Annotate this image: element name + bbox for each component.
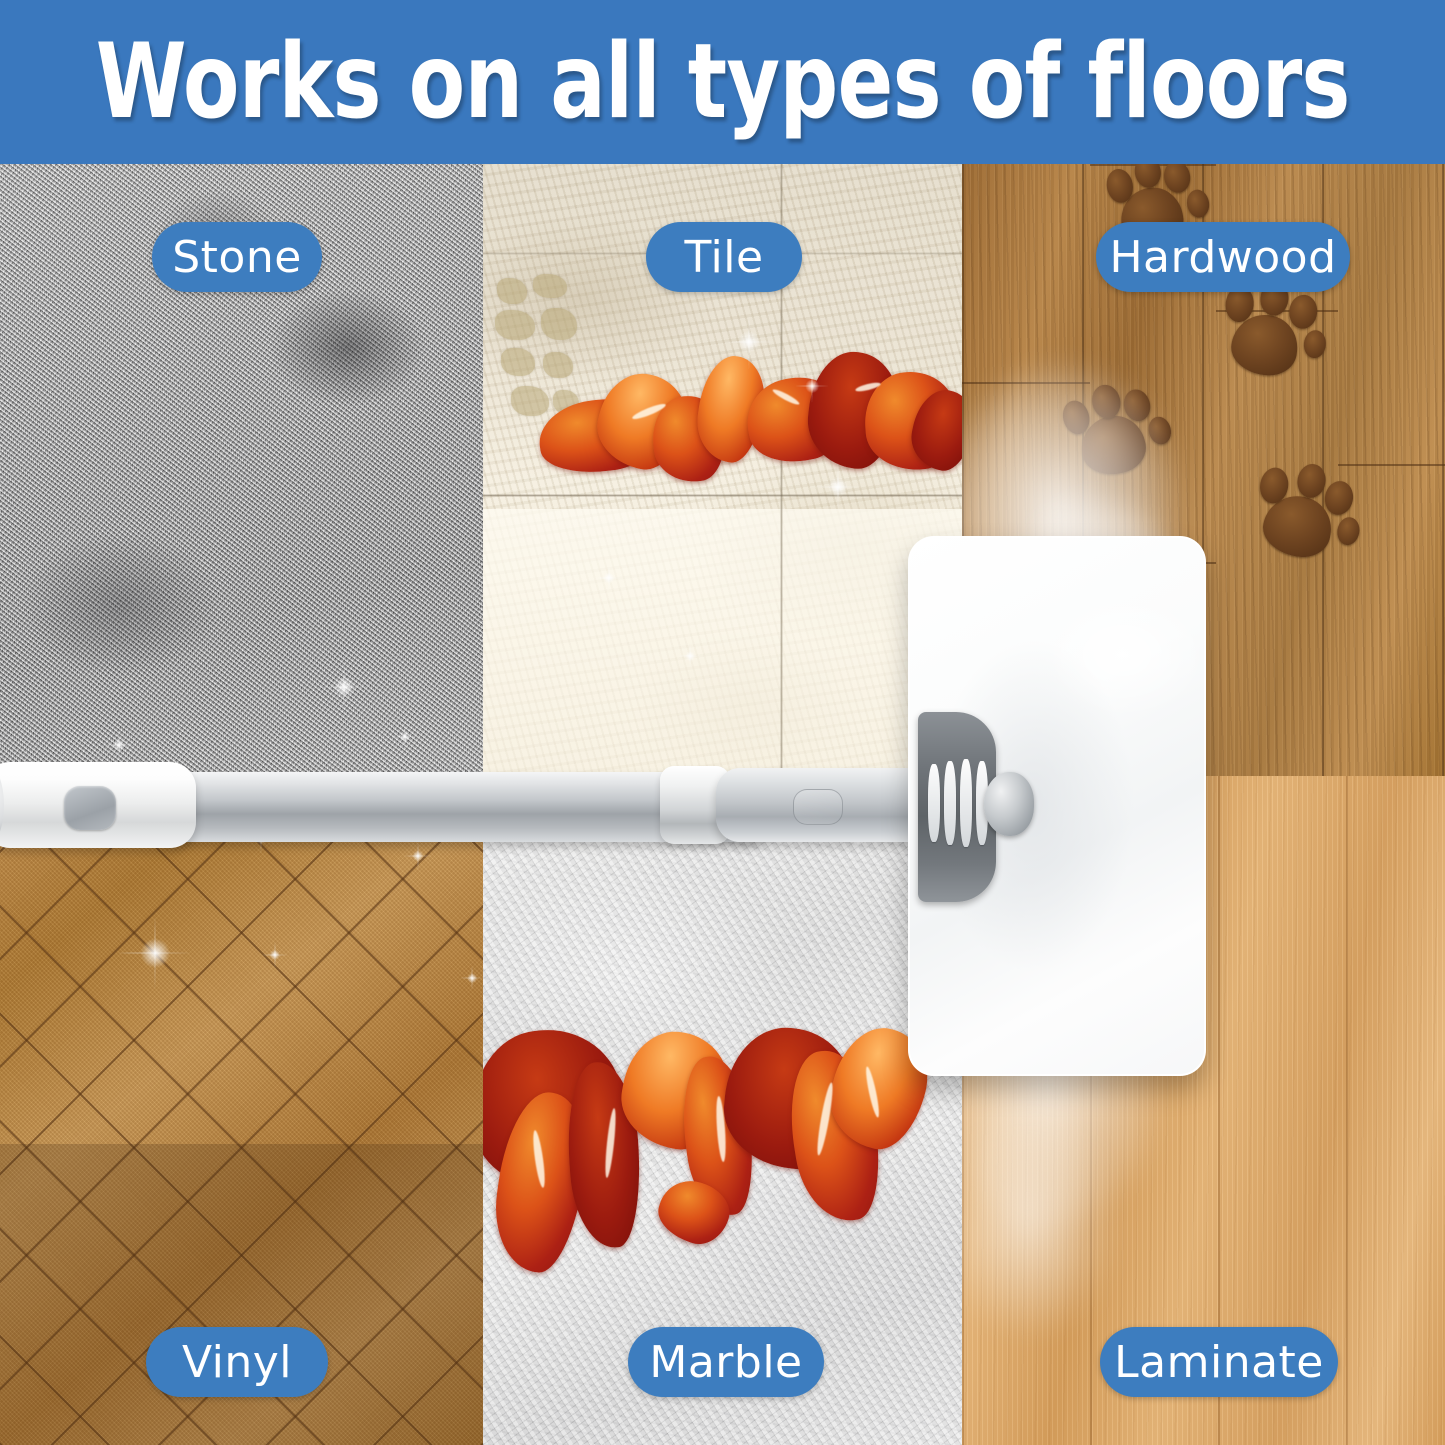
ketchup-stain [503, 344, 962, 514]
sparkle-icon [404, 842, 432, 870]
paw-print [1242, 455, 1373, 593]
mop-power-button[interactable] [64, 786, 116, 830]
floor-label-tile[interactable]: Tile [646, 222, 802, 292]
sparkle-icon [460, 966, 483, 990]
mop-neck-rib [960, 759, 972, 847]
sparkle-icon [318, 661, 370, 713]
product-feature-poster: Works on all types of floors [0, 0, 1445, 1445]
page-title: Works on all types of floors [96, 31, 1350, 134]
floor-label-marble[interactable]: Marble [628, 1327, 824, 1397]
mop-steam-button[interactable] [793, 789, 843, 825]
steam-cloud [962, 1106, 1118, 1336]
plank-seam [962, 382, 1090, 384]
floor-label-vinyl[interactable]: Vinyl [146, 1327, 328, 1397]
header-banner: Works on all types of floors [0, 0, 1445, 164]
mop-swivel-knob [984, 772, 1034, 836]
sparkle-icon [104, 730, 134, 760]
sparkle-icon [118, 916, 192, 990]
mop-neck-rib [928, 764, 940, 842]
vinyl-shadow-band [0, 1144, 483, 1445]
plank-seam [1338, 464, 1445, 466]
paw-print [1214, 277, 1336, 406]
sparkle-icon [392, 724, 418, 750]
ketchup-stain [483, 1022, 943, 1322]
floor-label-hardwood[interactable]: Hardwood [1096, 222, 1350, 292]
sparkle-icon [262, 942, 288, 968]
floor-label-stone[interactable]: Stone [152, 222, 322, 292]
paw-print [1056, 371, 1189, 510]
mop-neck-rib [944, 761, 956, 845]
floor-label-laminate[interactable]: Laminate [1100, 1327, 1338, 1397]
tile-polished-band [483, 509, 962, 776]
